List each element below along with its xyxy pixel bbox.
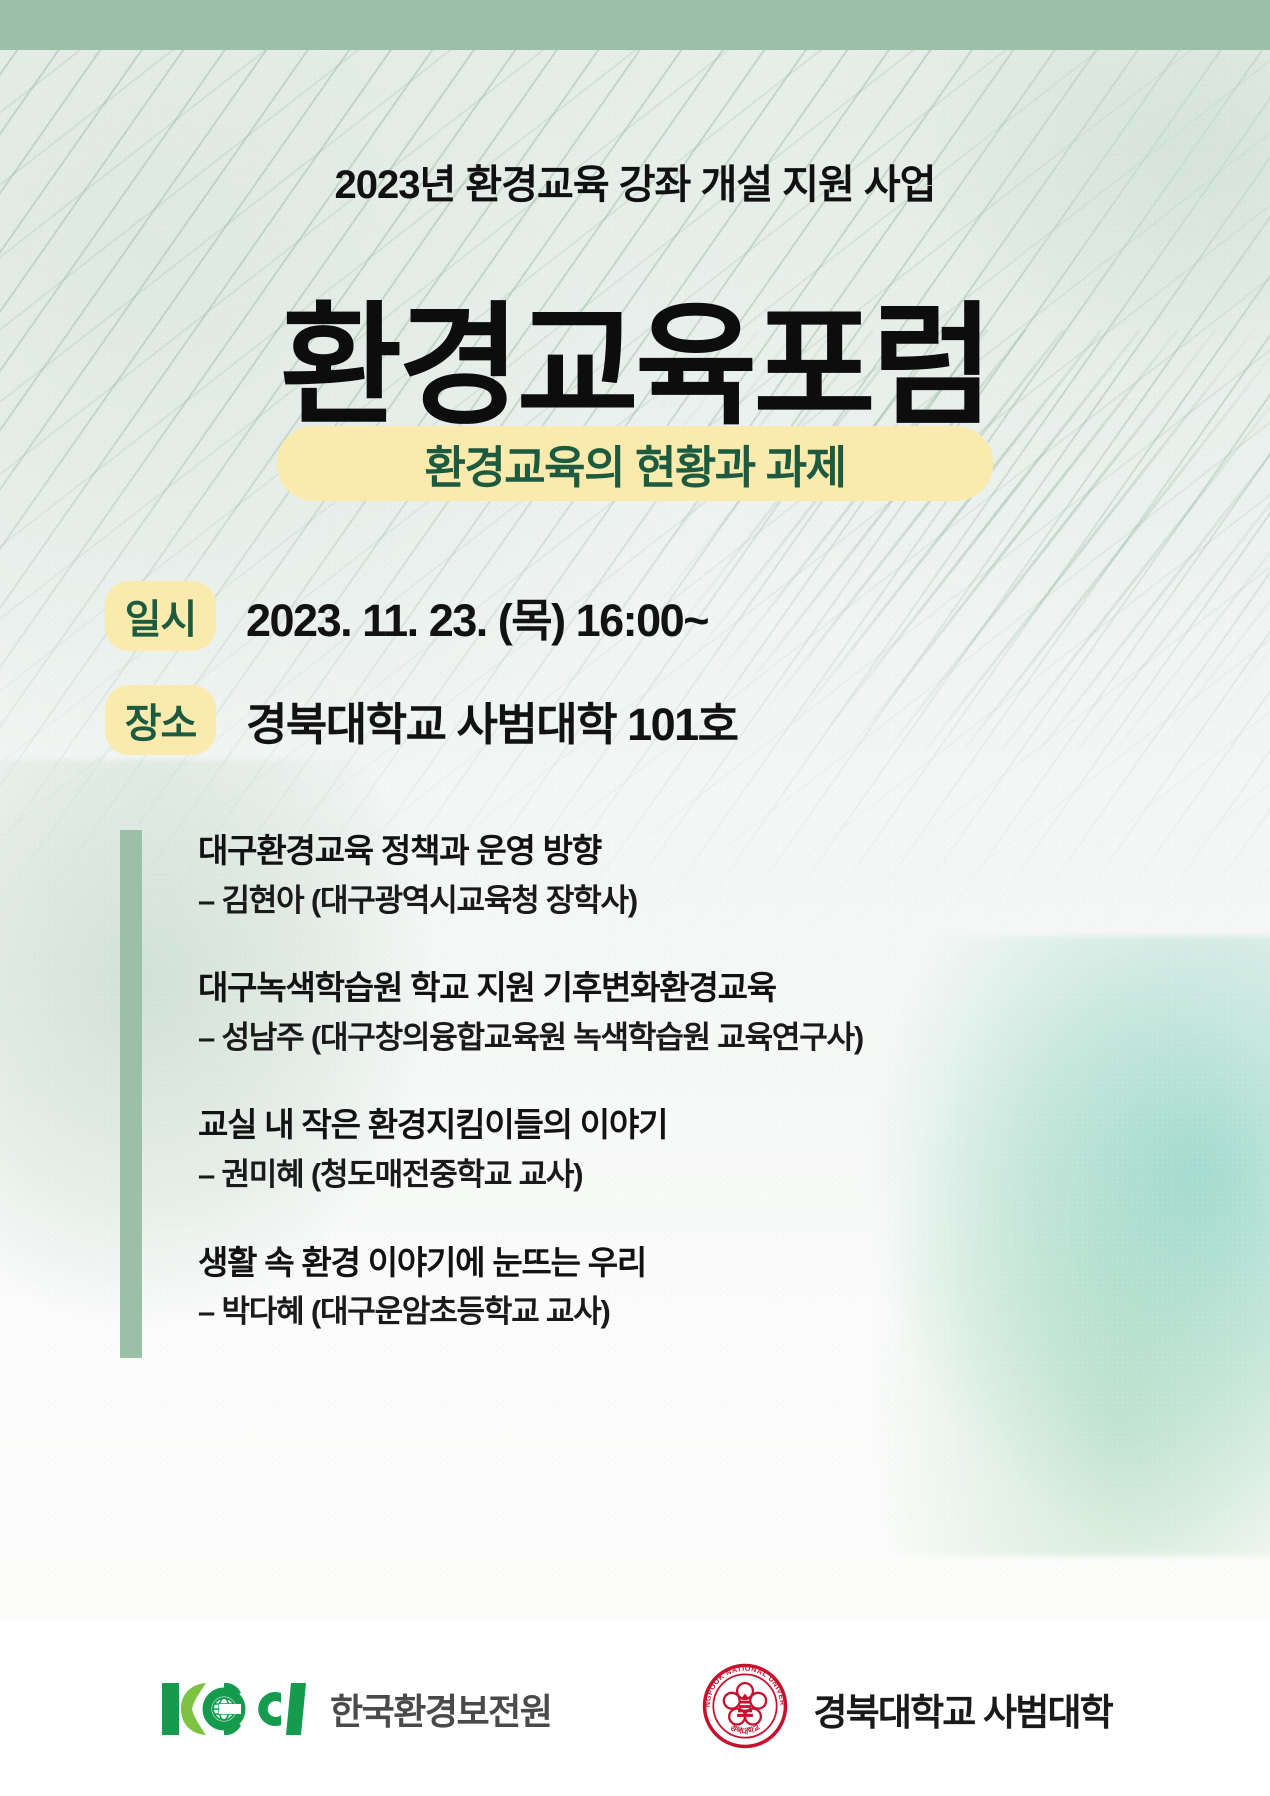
- program-item-speaker: – 성남주 (대구창의융합교육원 녹색학습원 교육연구사): [198, 1018, 1180, 1058]
- keci-name-label: 한국환경보전원: [330, 1683, 551, 1735]
- program-item-title: 대구환경교육 정책과 운영 방향: [198, 830, 1180, 873]
- subtitle-pill: 환경교육의 현황과 과제: [277, 426, 994, 501]
- program-list: 대구환경교육 정책과 운영 방향 – 김현아 (대구광역시교육청 장학사) 대구…: [198, 830, 1180, 1358]
- info-label-datetime: 일시: [105, 581, 216, 651]
- page-title: 환경교육포럼: [0, 297, 1270, 438]
- event-info-list: 일시 2023. 11. 23. (목) 16:00~ 장소 경북대학교 사범대…: [105, 580, 738, 788]
- kicker-line: 2023년 환경교육 강좌 개설 지원 사업: [0, 152, 1270, 210]
- info-value-datetime: 2023. 11. 23. (목) 16:00~: [246, 584, 708, 649]
- subtitle-text: 환경교육의 현황과 과제: [424, 431, 845, 496]
- knu-seal-icon: KYUNGPOOK NATIONAL UNIVERSITY 경북대학교: [701, 1662, 789, 1755]
- program-accent-rule: [120, 830, 142, 1358]
- keci-wordmark-icon: [158, 1677, 310, 1741]
- program-item: 생활 속 환경 이야기에 눈뜨는 우리 – 박다혜 (대구운암초등학교 교사): [198, 1242, 1180, 1333]
- program-item-title: 교실 내 작은 환경지킴이들의 이야기: [198, 1104, 1180, 1147]
- program-item-title: 생활 속 환경 이야기에 눈뜨는 우리: [198, 1242, 1180, 1285]
- info-row-venue: 장소 경북대학교 사범대학 101호: [105, 684, 738, 756]
- program-item-title: 대구녹색학습원 학교 지원 기후변화환경교육: [198, 967, 1180, 1010]
- info-row-datetime: 일시 2023. 11. 23. (목) 16:00~: [105, 580, 738, 652]
- info-value-venue: 경북대학교 사범대학 101호: [246, 688, 738, 753]
- program-item-speaker: – 박다혜 (대구운암초등학교 교사): [198, 1292, 1180, 1332]
- program-item: 대구환경교육 정책과 운영 방향 – 김현아 (대구광역시교육청 장학사): [198, 830, 1180, 921]
- footer-logo-row: 한국환경보전원 KYUNGPOOK NATIONAL UNIVERSITY: [0, 1621, 1270, 1796]
- program-item-speaker: – 김현아 (대구광역시교육청 장학사): [198, 881, 1180, 921]
- poster-root: 2023년 환경교육 강좌 개설 지원 사업 환경교육포럼 환경교육의 현황과 …: [0, 0, 1270, 1796]
- program-item-speaker: – 권미혜 (청도매전중학교 교사): [198, 1155, 1180, 1195]
- keci-logo-group: 한국환경보전원: [158, 1677, 551, 1741]
- poster-content: 2023년 환경교육 강좌 개설 지원 사업 환경교육포럼 환경교육의 현황과 …: [0, 0, 1270, 1796]
- program-item: 대구녹색학습원 학교 지원 기후변화환경교육 – 성남주 (대구창의융합교육원 …: [198, 967, 1180, 1058]
- knu-name-label: 경북대학교 사범대학: [813, 1682, 1112, 1736]
- program-item: 교실 내 작은 환경지킴이들의 이야기 – 권미혜 (청도매전중학교 교사): [198, 1104, 1180, 1195]
- knu-logo-group: KYUNGPOOK NATIONAL UNIVERSITY 경북대학교: [701, 1662, 1112, 1755]
- info-label-venue: 장소: [105, 685, 216, 755]
- program-section: 대구환경교육 정책과 운영 방향 – 김현아 (대구광역시교육청 장학사) 대구…: [120, 830, 1180, 1358]
